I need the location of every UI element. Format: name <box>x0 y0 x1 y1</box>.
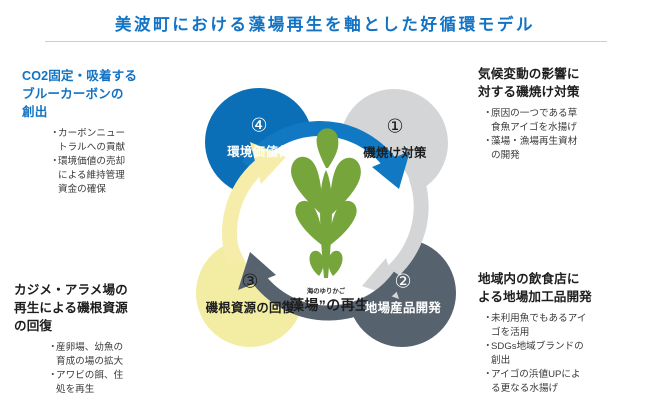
quadrant-3-label: 磯根資源の回復 <box>206 300 295 315</box>
bullet-text: 環境価値の売却 <box>58 155 172 169</box>
bullet-text: トラルへの貢献 <box>58 141 172 155</box>
bullet-line: トラルへの貢献 <box>50 141 172 155</box>
bullet-text: 食魚アイゴを水揚げ <box>491 121 644 135</box>
quadrant-4-number: ④ <box>250 116 267 137</box>
bullet-marker: ・ <box>48 341 56 355</box>
bullet-marker: ・ <box>50 127 58 141</box>
bullet-text: の開発 <box>491 149 644 163</box>
center-caption-main: “藻場”の再生 <box>283 297 370 313</box>
bullet-line: の開発 <box>483 149 644 163</box>
bullet-line: ・原因の一つである草 <box>483 107 644 121</box>
bullet-marker: ・ <box>483 312 491 326</box>
title-divider <box>45 41 607 42</box>
quadrant-4-label: 環境価値化 <box>227 144 291 159</box>
text-block-bottom-right: 地域内の飲食店による地場加工品開発 ・未利用魚でもあるアイゴを活用・SDGs地域… <box>478 271 646 396</box>
bullet-line: ・カーボンニュー <box>50 127 172 141</box>
quadrant-3-number: ③ <box>241 272 258 293</box>
bullet-line: 育成の場の拡大 <box>48 355 172 369</box>
bullet-text: 処を再生 <box>56 383 172 397</box>
text-block-top-left: CO2固定・吸着するブルーカーボンの創出 ・カーボンニュートラルへの貢献・環境価… <box>22 68 172 197</box>
quadrant-2-number: ② <box>394 272 411 293</box>
heading-line: 気候変動の影響に <box>478 66 644 84</box>
bullet-marker: ・ <box>48 369 56 383</box>
bullet-marker: ・ <box>483 368 491 382</box>
text-block-bottom-left: カジメ・アラメ場の再生による磯根資源の回復 ・産卵場、幼魚の育成の場の拡大・アワ… <box>14 282 172 397</box>
quadrant-2-label: 地場産品開発 <box>365 300 441 315</box>
bullet-line: ・産卵場、幼魚の <box>48 341 172 355</box>
bullet-line: 食魚アイゴを水揚げ <box>483 121 644 135</box>
bullet-text: 育成の場の拡大 <box>56 355 172 369</box>
bullet-line: ・アイゴの浜値UPによ <box>483 368 646 382</box>
text-block-bottom-right-heading: 地域内の飲食店による地場加工品開発 <box>478 271 646 307</box>
heading-line: ブルーカーボンの <box>22 86 172 104</box>
heading-line: カジメ・アラメ場の <box>14 282 172 300</box>
bullet-line: 処を再生 <box>48 383 172 397</box>
bullet-line: ・アワビの餌、住 <box>48 369 172 383</box>
bullet-text: による維持管理 <box>58 169 172 183</box>
text-block-top-left-heading: CO2固定・吸着するブルーカーボンの創出 <box>22 68 172 122</box>
bullet-line: による維持管理 <box>50 169 172 183</box>
bullet-line: ・未利用魚でもあるアイ <box>483 312 646 326</box>
bullet-text: カーボンニュー <box>58 127 172 141</box>
quadrant-1-number: ① <box>386 117 403 138</box>
page-title: 美波町における藻場再生を軸とした好循環モデル <box>0 11 650 35</box>
bullet-text: 藻場・漁場再生資材 <box>491 135 644 149</box>
heading-line: 地域内の飲食店に <box>478 271 646 289</box>
bullet-line: ・藻場・漁場再生資材 <box>483 135 644 149</box>
bullet-text: 創出 <box>491 354 646 368</box>
cycle-diagram: 海のゆりかご “藻場”の再生 ④ 環境価値化 ① 磯焼け対策 ② 地場産品開発 … <box>162 50 482 380</box>
bullet-line: る更なる水揚げ <box>483 382 646 396</box>
bullet-text: 原因の一つである草 <box>491 107 644 121</box>
bullet-text: アワビの餌、住 <box>56 369 172 383</box>
text-block-top-right: 気候変動の影響に対する磯焼け対策 ・原因の一つである草食魚アイゴを水揚げ・藻場・… <box>478 66 644 163</box>
bullet-line: ゴを活用 <box>483 326 646 340</box>
bullet-line: 資金の確保 <box>50 183 172 197</box>
heading-line: 再生による磯根資源 <box>14 300 172 318</box>
bullet-line: 創出 <box>483 354 646 368</box>
center-caption-small: 海のゆりかご <box>307 286 346 295</box>
bullet-marker: ・ <box>50 155 58 169</box>
bullet-text: 資金の確保 <box>58 183 172 197</box>
text-block-bottom-left-heading: カジメ・アラメ場の再生による磯根資源の回復 <box>14 282 172 336</box>
heading-line: の回復 <box>14 318 172 336</box>
text-block-bottom-left-bullets: ・産卵場、幼魚の育成の場の拡大・アワビの餌、住処を再生 <box>48 341 172 397</box>
bullet-marker: ・ <box>483 340 491 354</box>
bullet-line: ・SDGs地域ブランドの <box>483 340 646 354</box>
text-block-bottom-right-bullets: ・未利用魚でもあるアイゴを活用・SDGs地域ブランドの創出・アイゴの浜値UPによ… <box>483 312 646 396</box>
bullet-text: 産卵場、幼魚の <box>56 341 172 355</box>
heading-line: 創出 <box>22 104 172 122</box>
bullet-text: 未利用魚でもあるアイ <box>491 312 646 326</box>
quadrant-1-label: 磯焼け対策 <box>363 145 427 160</box>
bullet-marker: ・ <box>483 135 491 149</box>
title-area: 美波町における藻場再生を軸とした好循環モデル <box>0 0 650 48</box>
heading-line: CO2固定・吸着する <box>22 68 172 86</box>
heading-line: よる地場加工品開発 <box>478 289 646 307</box>
bullet-text: SDGs地域ブランドの <box>491 340 646 354</box>
bullet-text: ゴを活用 <box>491 326 646 340</box>
text-block-top-right-bullets: ・原因の一つである草食魚アイゴを水揚げ・藻場・漁場再生資材の開発 <box>483 107 644 163</box>
bullet-text: アイゴの浜値UPによ <box>491 368 646 382</box>
heading-line: 対する磯焼け対策 <box>478 84 644 102</box>
text-block-top-right-heading: 気候変動の影響に対する磯焼け対策 <box>478 66 644 102</box>
text-block-top-left-bullets: ・カーボンニュートラルへの貢献・環境価値の売却による維持管理資金の確保 <box>50 127 172 197</box>
bullet-line: ・環境価値の売却 <box>50 155 172 169</box>
bullet-text: る更なる水揚げ <box>491 382 646 396</box>
bullet-marker: ・ <box>483 107 491 121</box>
